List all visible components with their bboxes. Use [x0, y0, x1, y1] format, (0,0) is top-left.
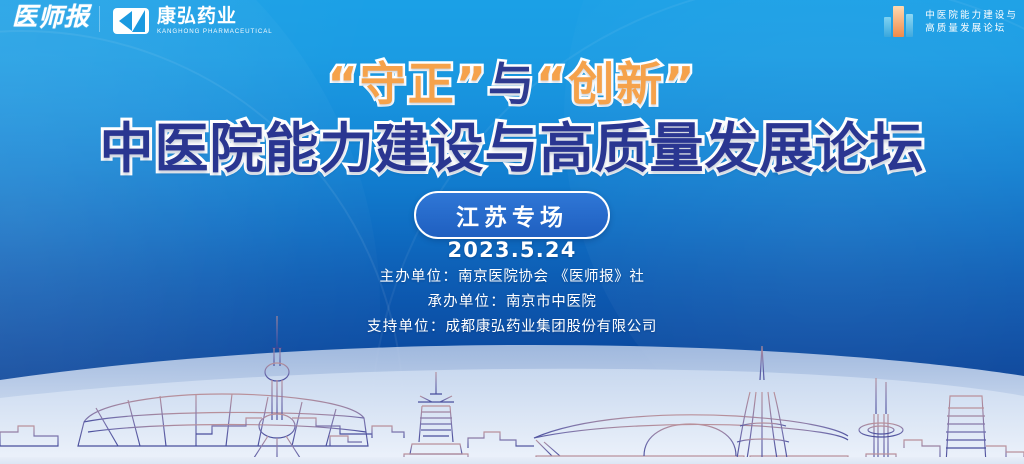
kanghong-logo: 康弘药业 KANGHONG PHARMACEUTICAL	[113, 6, 273, 36]
kanghong-name-cn: 康弘药业	[157, 7, 273, 26]
yishibao-logo: 医 师 报	[12, 4, 90, 34]
session-badge-row: 江苏专场	[0, 191, 1024, 239]
session-badge: 江苏专场	[414, 191, 610, 239]
banner-canvas: 医 师 报 康弘药业 KANGHONG PHARMACEUTICAL 中医院能力…	[0, 0, 1024, 464]
title-line-1: “守正”与“创新”	[0, 56, 1024, 112]
forum-bar-center	[893, 6, 904, 37]
forum-bar-right	[906, 14, 913, 37]
forum-logo-line-2: 高质量发展论坛	[925, 23, 1018, 34]
forum-bar-left	[884, 17, 891, 37]
kanghong-k-mark-icon	[113, 8, 149, 34]
banner-header: 医 师 报 康弘药业 KANGHONG PHARMACEUTICAL 中医院能力…	[0, 0, 1024, 46]
title-part-chuangxin: “创新”	[536, 57, 696, 111]
forum-logo: 中医院能力建设与 高质量发展论坛	[884, 4, 1018, 40]
organizer-label: 承办单位：	[427, 294, 506, 310]
organizer-row: 支持单位：成都康弘药业集团股份有限公司	[367, 316, 657, 338]
organizer-row: 主办单位：南京医院协会 《医师报》社	[380, 266, 645, 288]
bottom-strip	[0, 457, 1024, 464]
yishibao-char-2: 师	[38, 5, 62, 33]
title-block: “守正”与“创新” 中医院能力建设与高质量发展论坛	[0, 56, 1024, 180]
yishibao-char-1: 医	[12, 4, 36, 32]
event-date: 2023.5.24	[0, 238, 1024, 262]
organizer-value: 南京市中医院	[506, 294, 597, 310]
header-divider	[99, 6, 100, 32]
forum-book-bars-icon	[884, 5, 918, 39]
organizer-value: 成都康弘药业集团股份有限公司	[446, 319, 657, 335]
title-line-2: 中医院能力建设与高质量发展论坛	[0, 118, 1024, 180]
kanghong-logo-text: 康弘药业 KANGHONG PHARMACEUTICAL	[157, 7, 273, 36]
organizer-label: 支持单位：	[367, 319, 446, 335]
organizer-row: 承办单位：南京市中医院	[427, 291, 596, 313]
title-part-shouzheng: “守正”	[328, 57, 488, 111]
forum-logo-text: 中医院能力建设与 高质量发展论坛	[925, 10, 1018, 34]
organizer-value: 南京医院协会 《医师报》社	[458, 269, 644, 285]
yishibao-char-3: 报	[64, 4, 88, 32]
title-part-yu: 与	[488, 57, 536, 111]
kanghong-name-en: KANGHONG PHARMACEUTICAL	[157, 27, 273, 36]
forum-logo-line-1: 中医院能力建设与	[925, 10, 1018, 21]
organizer-list: 主办单位：南京医院协会 《医师报》社 承办单位：南京市中医院 支持单位：成都康弘…	[0, 266, 1024, 338]
organizer-label: 主办单位：	[380, 269, 459, 285]
